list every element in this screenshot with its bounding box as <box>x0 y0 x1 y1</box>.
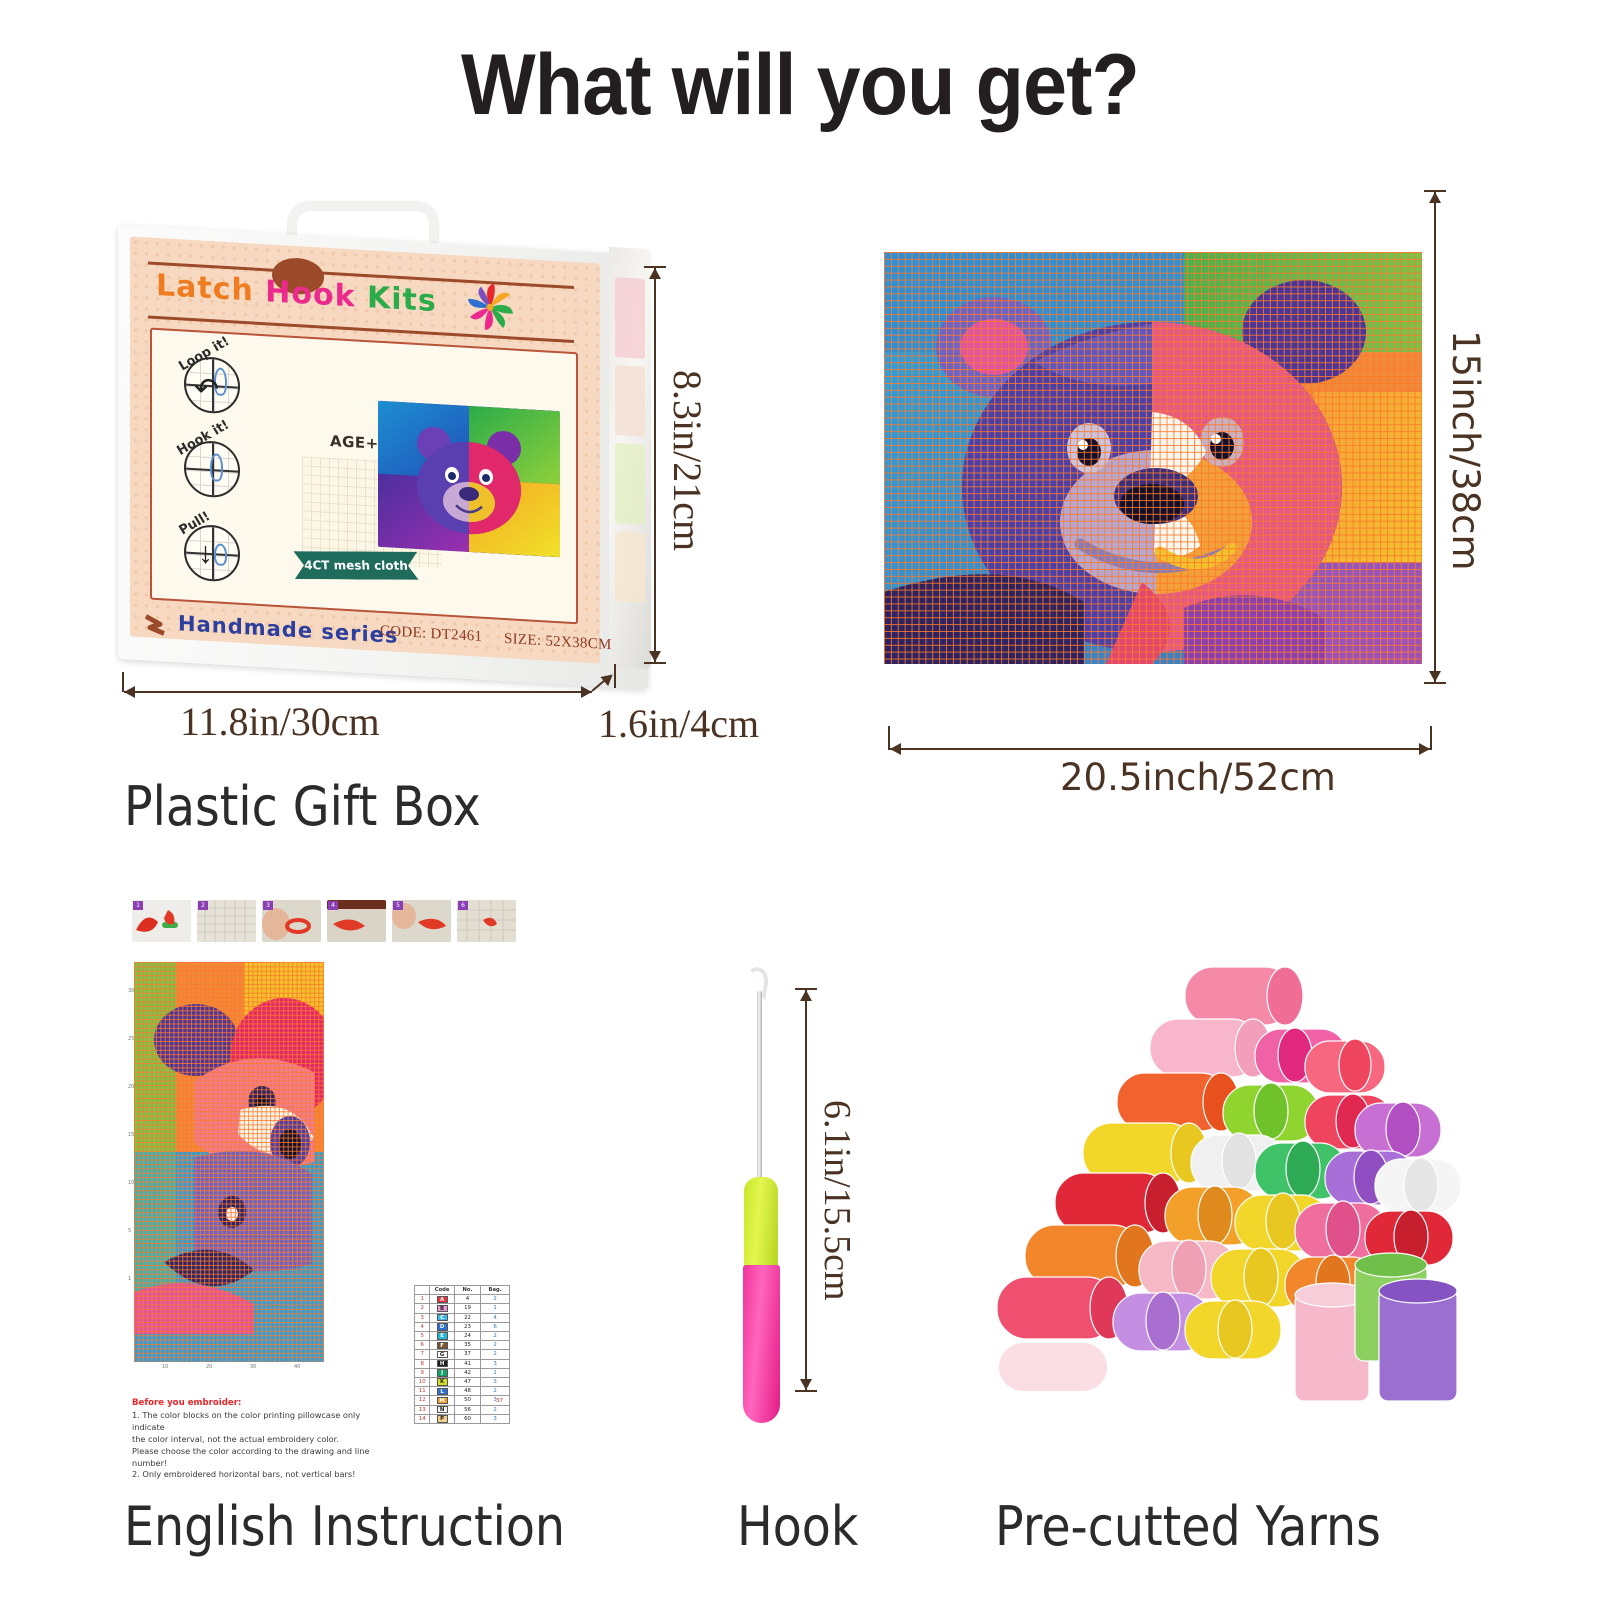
brand-word-hook: Hook <box>265 274 355 314</box>
color-row-bag: 2 <box>481 1387 510 1396</box>
notes-line: Please choose the color according to the… <box>132 1446 372 1470</box>
color-swatch: C <box>437 1314 448 1321</box>
color-row-index: 14 <box>415 1414 430 1423</box>
color-table-row: 9J421 <box>415 1368 510 1377</box>
color-row-index: 10 <box>415 1378 430 1387</box>
notes-heading: Before you embroider: <box>132 1398 372 1408</box>
color-row-no: 23 <box>454 1322 481 1331</box>
giftbox-width-label: 11.8in/30cm <box>180 698 380 745</box>
color-row-index: 11 <box>415 1387 430 1396</box>
instruction-thumbnail: 5 <box>392 900 451 942</box>
hook-handle-upper <box>744 1177 778 1269</box>
color-swatch: E <box>437 1332 448 1339</box>
color-row-no: 19 <box>454 1304 481 1313</box>
hook-handle-lower <box>743 1265 780 1423</box>
color-table-header-row: Code No. Bag. <box>415 1286 510 1295</box>
color-row-no: 47 <box>454 1378 481 1387</box>
giftbox-depth-label: 1.6in/4cm <box>598 700 759 747</box>
thumbnail-number: 6 <box>458 901 468 910</box>
color-row-code: A <box>430 1295 454 1304</box>
color-row-bag: 3 <box>481 1359 510 1368</box>
color-swatch: H <box>437 1360 448 1367</box>
color-row-no: 35 <box>454 1341 481 1350</box>
color-row-index: 9 <box>415 1368 430 1377</box>
mesh-ribbon-label: 4CT mesh cloth <box>293 551 418 580</box>
header-index <box>415 1286 430 1295</box>
color-row-bag: 2 <box>481 1405 510 1414</box>
color-row-bag: 1 <box>481 1368 510 1377</box>
color-swatch: L <box>437 1388 448 1395</box>
color-table-row: 8H413 <box>415 1359 510 1368</box>
color-row-index: 13 <box>415 1405 430 1414</box>
color-row-bag: 2 <box>481 1295 510 1304</box>
caption-plastic-gift-box: Plastic Gift Box <box>124 775 481 838</box>
color-row-index: 3 <box>415 1313 430 1322</box>
chart-vertical-ticks: 302520 15105 1 <box>128 962 134 1362</box>
brand-word-latch: Latch <box>156 268 254 309</box>
notes-line: 1. The color blocks on the color printin… <box>132 1410 372 1434</box>
instruction-thumbnail-strip: 1 2 3 4 5 6 <box>132 900 518 942</box>
color-table-row: 1A42 <box>415 1295 510 1304</box>
caption-pre-cutted-yarns: Pre-cutted Yarns <box>995 1495 1381 1558</box>
color-row-no: 22 <box>454 1313 481 1322</box>
yarn-bundle-illustration <box>955 945 1475 1445</box>
color-row-bag: 2 <box>481 1341 510 1350</box>
color-swatch: A <box>437 1296 448 1303</box>
color-swatch: K <box>437 1378 448 1385</box>
header-bag: Bag. <box>481 1286 510 1295</box>
thumbnail-number: 4 <box>328 901 338 910</box>
notes-line: 2. Only embroidered horizontal bars, not… <box>132 1469 372 1481</box>
color-row-bag: 6 <box>481 1322 510 1331</box>
box-inner-panel: ↶ Loop it! Hook it! ↓ Pull! AGE+6 ! 4CT … <box>150 328 578 625</box>
thumbnail-number: 3 <box>263 901 273 910</box>
color-table-row: 7G372 <box>415 1350 510 1359</box>
caption-english-instruction: English Instruction <box>124 1495 565 1558</box>
color-row-code: B <box>430 1304 454 1313</box>
color-row-no: 60 <box>454 1414 481 1423</box>
hook-dimension-label: 6.1in/15.5cm <box>815 1100 859 1301</box>
thumbnail-number: 5 <box>393 901 403 910</box>
color-row-code: F <box>430 1341 454 1350</box>
notes-line: the color interval, not the actual embro… <box>132 1434 372 1446</box>
color-swatch: P <box>437 1415 448 1422</box>
giftbox-height-label: 8.3in/21cm <box>664 370 711 551</box>
color-table-row: 5E242 <box>415 1332 510 1341</box>
color-table-row: 11L482 <box>415 1387 510 1396</box>
box-product-photo <box>378 401 560 557</box>
color-row-index: 5 <box>415 1332 430 1341</box>
color-row-code: K <box>430 1378 454 1387</box>
color-table-row: 13N562 <box>415 1405 510 1414</box>
header-code: Code <box>430 1286 454 1295</box>
color-row-bag: 4 <box>481 1313 510 1322</box>
color-table-row: 4D236 <box>415 1322 510 1331</box>
latch-hook-tool <box>700 955 810 1425</box>
gift-box-illustration: Latch Hook Kits ↶ <box>118 196 658 696</box>
color-row-code: L <box>430 1387 454 1396</box>
header-no: No. <box>454 1286 481 1295</box>
color-row-bag: 1 <box>481 1304 510 1313</box>
color-swatch: F <box>437 1342 448 1349</box>
color-row-bag: 2 <box>481 1332 510 1341</box>
color-row-code: P <box>430 1414 454 1423</box>
hook-shaft <box>757 991 762 1183</box>
color-table-row: 3C224 <box>415 1313 510 1322</box>
color-row-index: 7 <box>415 1350 430 1359</box>
color-row-no: 56 <box>454 1405 481 1414</box>
thumbnail-number: 1 <box>133 901 143 910</box>
instruction-thumbnail: 6 <box>457 900 516 942</box>
caption-hook: Hook <box>737 1495 858 1558</box>
color-row-index: 2 <box>415 1304 430 1313</box>
color-row-no: 37 <box>454 1350 481 1359</box>
box-side-panel <box>609 247 651 669</box>
color-table-row: 10K473 <box>415 1378 510 1387</box>
canvas-height-label: 15inch/38cm <box>1444 330 1487 571</box>
color-row-no: 42 <box>454 1368 481 1377</box>
color-swatch: N <box>437 1406 448 1413</box>
color-row-index: 6 <box>415 1341 430 1350</box>
color-row-no: 48 <box>454 1387 481 1396</box>
color-row-no: 41 <box>454 1359 481 1368</box>
color-table-total: 37 <box>414 1398 510 1404</box>
canvas-bear-artwork <box>884 252 1422 664</box>
instruction-thumbnail: 3 <box>262 900 321 942</box>
color-row-bag: 3 <box>481 1414 510 1423</box>
pre-cutted-yarns-photo <box>955 945 1475 1445</box>
before-you-embroider-notes: Before you embroider: 1. The color block… <box>132 1398 372 1481</box>
box-front-artwork: Latch Hook Kits ↶ <box>130 236 600 663</box>
instruction-thumbnail: 2 <box>197 900 256 942</box>
color-row-code: H <box>430 1359 454 1368</box>
color-table-row: 6F352 <box>415 1341 510 1350</box>
color-row-code: E <box>430 1332 454 1341</box>
instruction-chart-image <box>134 962 324 1362</box>
hook-tip <box>741 965 770 1001</box>
color-row-code: C <box>430 1313 454 1322</box>
color-row-index: 8 <box>415 1359 430 1368</box>
brand-word-kits: Kits <box>367 280 437 319</box>
color-row-code: N <box>430 1405 454 1414</box>
scissors-icon <box>144 613 170 636</box>
color-swatch: B <box>437 1305 448 1312</box>
color-table-row: 2B191 <box>415 1304 510 1313</box>
thumbnail-number: 2 <box>198 901 208 910</box>
color-row-bag: 2 <box>481 1350 510 1359</box>
pinwheel-icon <box>460 275 520 338</box>
color-row-code: G <box>430 1350 454 1359</box>
chart-horizontal-ticks: 1020 3040 <box>134 1364 324 1372</box>
color-row-bag: 3 <box>481 1378 510 1387</box>
color-row-code: J <box>430 1368 454 1377</box>
color-row-index: 4 <box>415 1322 430 1331</box>
printed-canvas-illustration <box>884 252 1422 664</box>
instruction-thumbnail: 1 <box>132 900 191 942</box>
color-row-no: 24 <box>454 1332 481 1341</box>
english-instruction-sheet: 1 2 3 4 5 6 <box>128 900 518 1470</box>
color-swatch: G <box>437 1351 448 1358</box>
color-table-row: 14P603 <box>415 1414 510 1423</box>
color-row-code: D <box>430 1322 454 1331</box>
color-swatch: J <box>437 1369 448 1376</box>
canvas-width-label: 20.5inch/52cm <box>1060 756 1336 799</box>
instruction-thumbnail: 4 <box>327 900 386 942</box>
page-title: What will you get? <box>64 36 1536 135</box>
color-row-no: 4 <box>454 1295 481 1304</box>
color-swatch: D <box>437 1323 448 1330</box>
color-row-index: 1 <box>415 1295 430 1304</box>
